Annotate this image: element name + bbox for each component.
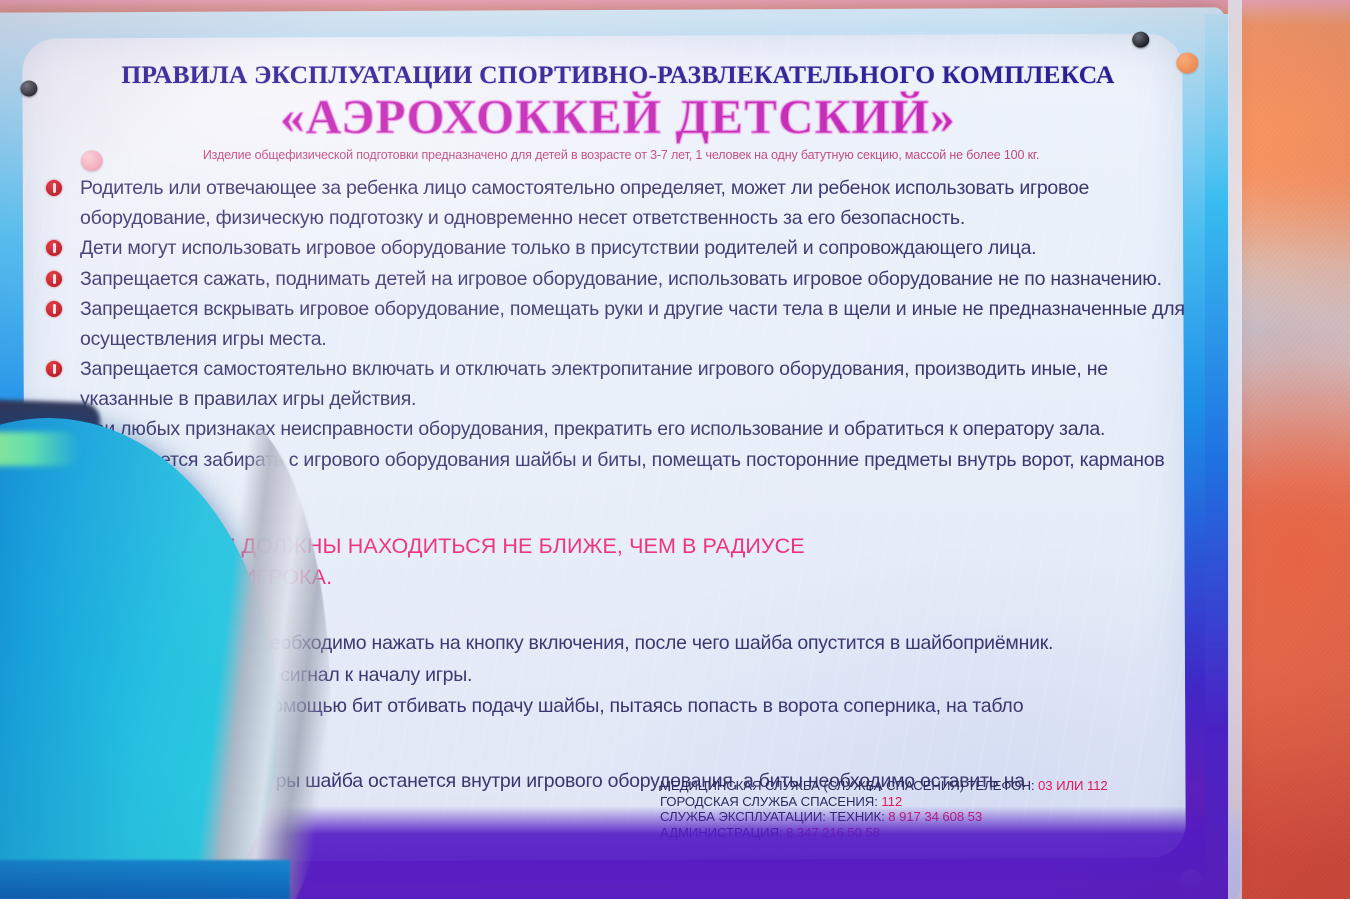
- emergency-contacts: МЕДИЦИНСКАЯ СЛУЖБА (СЛУЖБА СПАСЕНИЯ) ТЕЛ…: [660, 778, 1180, 840]
- warning-bullet-icon: [46, 361, 62, 377]
- rule-item: Родитель или отвечающее за ребенка лицо …: [40, 174, 1190, 233]
- warning-bullet-icon: [46, 301, 62, 317]
- contact-row: АДМИНИСТРАЦИЯ: 8 347 216 50 58: [660, 825, 1180, 841]
- contact-number: 8 917 34 608 53: [888, 809, 982, 824]
- wall-right-edge: [1228, 0, 1242, 899]
- rule-text: Родитель или отвечающее за ребенка лицо …: [80, 177, 1089, 229]
- sign-title-line2: «АЭРОХОККЕЙ ДЕТСКИЙ»: [38, 88, 1198, 145]
- contact-label: ГОРОДСКАЯ СЛУЖБА СПАСЕНИЯ:: [660, 794, 878, 809]
- rule-item: Запрещается вскрывать игровое оборудован…: [40, 295, 1190, 354]
- rule-item: Запрещается сажать, поднимать детей на и…: [40, 265, 1190, 295]
- contact-number: 8 347 216 50 58: [786, 825, 880, 840]
- contact-number: 03 ИЛИ 112: [1038, 778, 1108, 793]
- contact-label: АДМИНИСТРАЦИЯ:: [660, 825, 783, 840]
- rule-text: Запрещается самостоятельно включать и от…: [80, 358, 1108, 410]
- rule-item: Дети могут использовать игровое оборудов…: [40, 234, 1190, 264]
- contact-row: МЕДИЦИНСКАЯ СЛУЖБА (СЛУЖБА СПАСЕНИЯ) ТЕЛ…: [660, 778, 1180, 794]
- contact-row: ГОРОДСКАЯ СЛУЖБА СПАСЕНИЯ: 112: [660, 794, 1180, 810]
- table-base: [0, 860, 290, 899]
- contact-number: 112: [881, 794, 902, 809]
- warning-bullet-icon: [46, 271, 62, 287]
- rule-text: Запрещается сажать, поднимать детей на и…: [80, 268, 1162, 290]
- contact-row: СЛУЖБА ЭКСПЛУАТАЦИИ: ТЕХНИК: 8 917 34 60…: [660, 809, 1180, 825]
- warning-bullet-icon: [46, 240, 62, 256]
- photo-scene: ПРАВИЛА ЭКСПЛУАТАЦИИ СПОРТИВНО-РАЗВЛЕКАТ…: [0, 0, 1350, 899]
- board-right-border: [1205, 14, 1229, 884]
- contact-label: СЛУЖБА ЭКСПЛУАТАЦИИ: ТЕХНИК:: [660, 809, 885, 824]
- sign-subtitle: Изделие общефизической подготовки предна…: [86, 148, 1156, 162]
- rule-item: Запрещается самостоятельно включать и от…: [40, 355, 1190, 414]
- mounting-screw: [20, 80, 37, 96]
- warning-bullet-icon: [46, 180, 62, 196]
- contact-label: МЕДИЦИНСКАЯ СЛУЖБА (СЛУЖБА СПАСЕНИЯ) ТЕЛ…: [660, 778, 1034, 793]
- sign-title-line1: ПРАВИЛА ЭКСПЛУАТАЦИИ СПОРТИВНО-РАЗВЛЕКАТ…: [38, 60, 1198, 90]
- table-led-glow: [0, 432, 80, 466]
- wall-plug: [1180, 869, 1202, 890]
- rule-text: Дети могут использовать игровое оборудов…: [80, 237, 1036, 259]
- rule-text: Запрещается вскрывать игровое оборудован…: [80, 298, 1185, 350]
